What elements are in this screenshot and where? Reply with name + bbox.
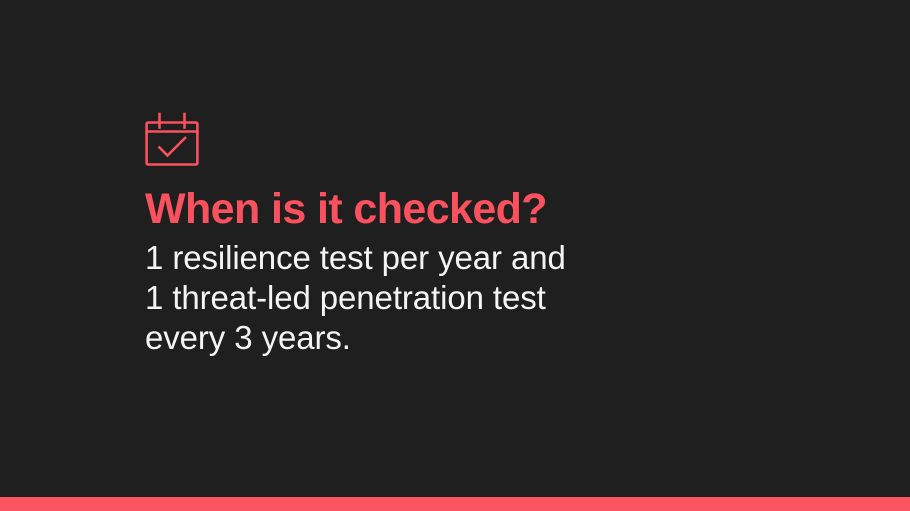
body-line: every 3 years. — [145, 318, 785, 358]
slide-root: When is it checked? 1 resilience test pe… — [0, 0, 910, 511]
body-line: 1 threat-led penetration test — [145, 278, 785, 318]
slide-content: When is it checked? 1 resilience test pe… — [145, 112, 785, 358]
body-line: 1 resilience test per year and — [145, 238, 785, 278]
page-title: When is it checked? — [145, 184, 785, 234]
body-copy: 1 resilience test per year and 1 threat-… — [145, 238, 785, 358]
calendar-check-icon — [145, 112, 199, 166]
bottom-accent-bar — [0, 497, 910, 511]
